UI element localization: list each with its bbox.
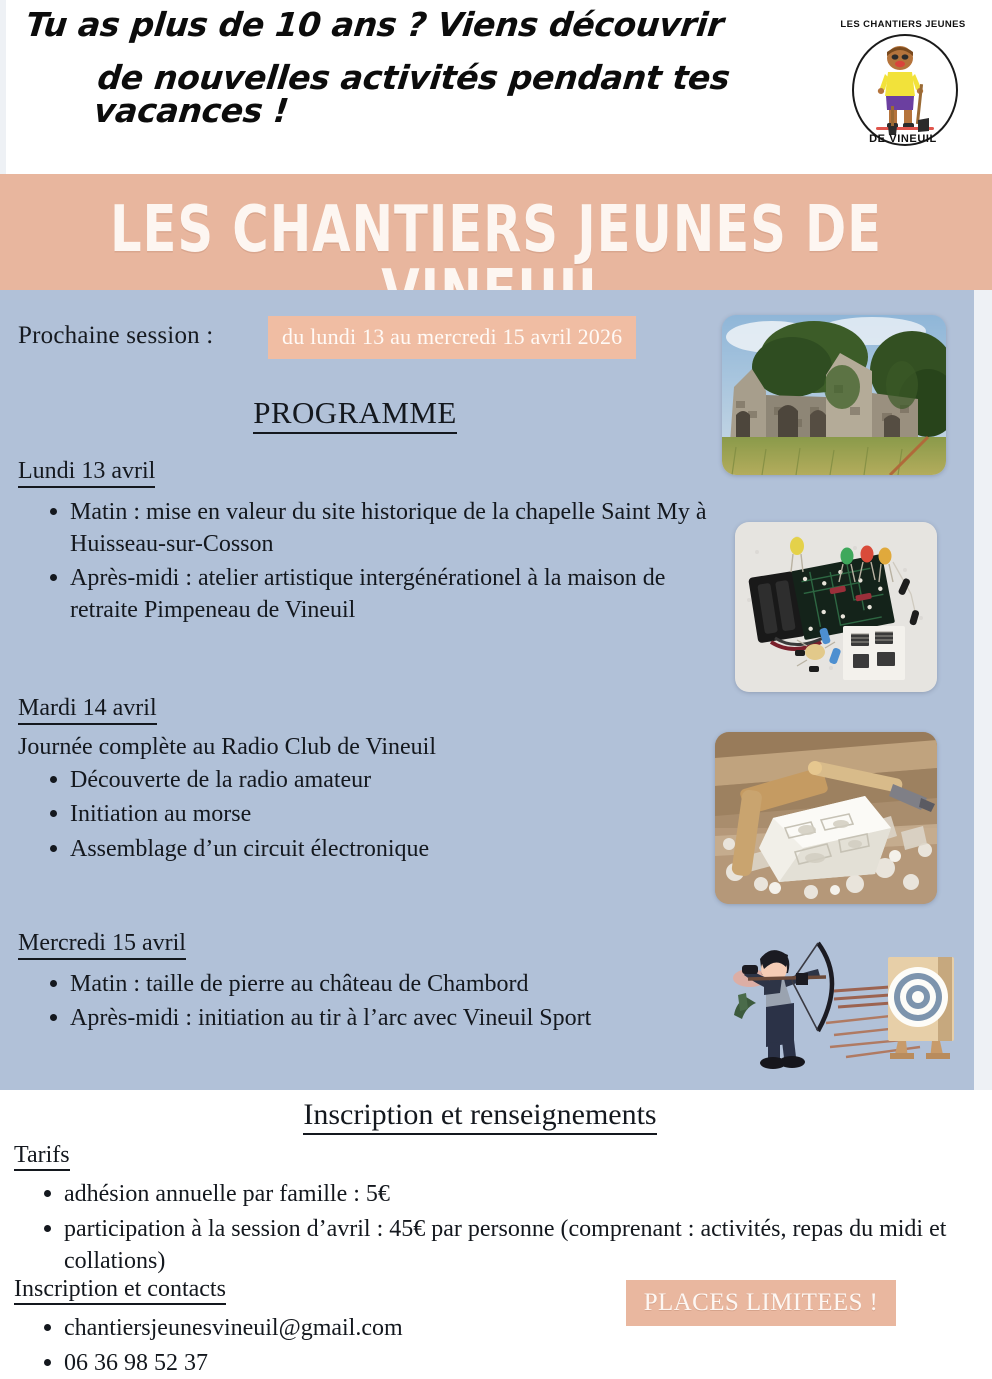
list-item: participation à la session d’avril : 45€…: [42, 1213, 982, 1278]
day-block-wednesday: Mercredi 15 avril Matin : taille de pier…: [18, 930, 718, 1036]
day-block-tuesday: Mardi 14 avril Journée complète au Radio…: [18, 695, 718, 867]
title-band: LES CHANTIERS JEUNES DE VINEUIL: [0, 174, 992, 290]
activity-list-tuesday: Découverte de la radio amateur Initiatio…: [18, 764, 718, 864]
tarifs-heading: Tarifs: [14, 1142, 70, 1169]
header-left-margin: [0, 0, 6, 174]
poster: Tu as plus de 10 ans ? Viens découvrir d…: [0, 0, 992, 1379]
electronics-kit-photo: [735, 522, 937, 692]
poster-header: Tu as plus de 10 ans ? Viens découvrir d…: [0, 0, 992, 174]
contact-phone[interactable]: 06 36 98 52 37: [42, 1347, 982, 1379]
tarifs-list: adhésion annuelle par famille : 5€ parti…: [14, 1178, 982, 1280]
worker-with-shovel-icon: [874, 44, 936, 136]
chapel-ruins-photo: [722, 315, 946, 475]
session-row: Prochaine session : du lundi 13 au mercr…: [18, 316, 708, 360]
programme-heading-text: PROGRAMME: [253, 395, 456, 434]
registration-heading-text: Inscription et renseignements: [303, 1098, 656, 1135]
contact-heading-text: Inscription et contacts: [14, 1276, 226, 1305]
day-title-monday: Lundi 13 avril: [18, 458, 155, 488]
programme-heading: PROGRAMME: [0, 395, 710, 431]
stone-carving-photo: [715, 732, 937, 904]
main-right-margin: [974, 290, 992, 1090]
list-item: Initiation au morse: [48, 798, 718, 830]
registration-section: Inscription et renseignements Tarifs adh…: [0, 1090, 992, 1379]
day-subtitle-tuesday: Journée complète au Radio Club de Vineui…: [18, 733, 718, 762]
list-item: Après-midi : atelier artistique intergén…: [48, 562, 718, 626]
list-item: adhésion annuelle par famille : 5€: [42, 1178, 982, 1211]
day-title-tuesday: Mardi 14 avril: [18, 695, 157, 725]
archery-illustration: [722, 935, 972, 1070]
session-label: Prochaine session :: [18, 322, 213, 350]
list-item: Assemblage d’un circuit électronique: [48, 833, 718, 865]
tarifs-heading-text: Tarifs: [14, 1142, 70, 1171]
places-limitees-badge: PLACES LIMITEES !: [626, 1280, 896, 1326]
list-item: Matin : taille de pierre au château de C…: [48, 968, 718, 1000]
headline-line-1: Tu as plus de 10 ans ? Viens découvrir: [16, 8, 819, 41]
contact-heading: Inscription et contacts: [14, 1276, 226, 1303]
programme-section: Prochaine session : du lundi 13 au mercr…: [0, 290, 974, 1090]
list-item: Découverte de la radio amateur: [48, 764, 718, 796]
headline: Tu as plus de 10 ans ? Viens découvrir d…: [18, 8, 818, 168]
list-item: Matin : mise en valeur du site historiqu…: [48, 496, 718, 560]
registration-heading: Inscription et renseignements: [0, 1098, 960, 1132]
list-item: Après-midi : initiation au tir à l’arc a…: [48, 1002, 718, 1034]
association-logo: LES CHANTIERS JEUNES: [838, 16, 968, 158]
session-dates-chip: du lundi 13 au mercredi 15 avril 2026: [268, 316, 636, 359]
day-title-wednesday: Mercredi 15 avril: [18, 930, 186, 960]
headline-line-2: de nouvelles activités pendant tes vacan…: [15, 61, 822, 127]
logo-arc-bottom-text: DE VINEUIL: [840, 134, 966, 145]
activity-list-monday: Matin : mise en valeur du site historiqu…: [18, 496, 718, 627]
day-block-monday: Lundi 13 avril Matin : mise en valeur du…: [18, 458, 718, 629]
activity-list-wednesday: Matin : taille de pierre au château de C…: [18, 968, 718, 1034]
